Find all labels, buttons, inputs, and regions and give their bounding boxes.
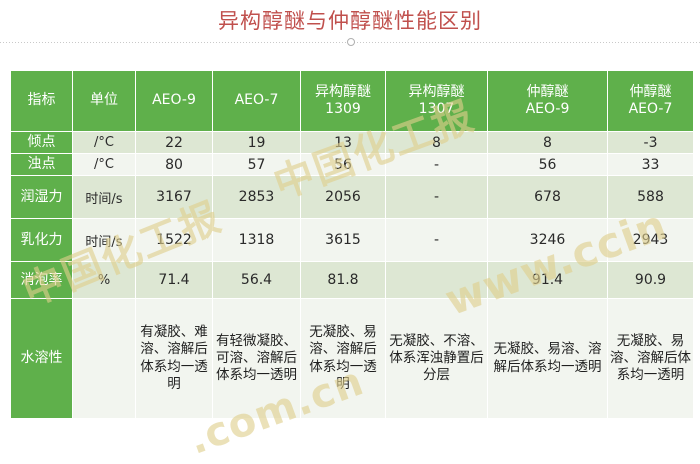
cell-iso1309: 无凝胶、易溶、溶解后体系均一透明 bbox=[301, 299, 386, 419]
header-line1: 单位 bbox=[90, 92, 118, 108]
header-line1: AEO-7 bbox=[235, 92, 279, 108]
column-header-aeo7: AEO-7 bbox=[213, 71, 301, 132]
table-row: 浊点 /°C 80 57 56 - 56 33 bbox=[11, 154, 694, 176]
column-header-sec-aeo7: 仲醇醚 AEO-7 bbox=[608, 71, 694, 132]
cell-aeo9: 80 bbox=[136, 154, 213, 176]
cell-aeo7: 2853 bbox=[213, 176, 301, 219]
cell-sec-aeo9: 91.4 bbox=[488, 262, 608, 299]
column-header-iso1309: 异构醇醚 1309 bbox=[301, 71, 386, 132]
cell-iso1309: 81.8 bbox=[301, 262, 386, 299]
column-header-iso1307: 异构醇醚 1307 bbox=[386, 71, 488, 132]
header-line1: 仲醇醚 bbox=[527, 84, 569, 100]
row-metric-label: 消泡率 bbox=[11, 262, 73, 299]
column-header-unit: 单位 bbox=[73, 71, 136, 132]
cell-aeo7: 57 bbox=[213, 154, 301, 176]
cell-iso1307: - bbox=[386, 154, 488, 176]
cell-sec-aeo7: 588 bbox=[608, 176, 694, 219]
header-line1: 异构醇醚 bbox=[409, 84, 465, 100]
cell-iso1309: 13 bbox=[301, 132, 386, 154]
title-divider-dot bbox=[347, 38, 355, 46]
cell-iso1309: 3615 bbox=[301, 219, 386, 262]
header-line1: 异构醇醚 bbox=[315, 84, 371, 100]
column-header-sec-aeo9: 仲醇醚 AEO-9 bbox=[488, 71, 608, 132]
row-metric-label: 倾点 bbox=[11, 132, 73, 154]
row-unit: /°C bbox=[73, 132, 136, 154]
cell-aeo9: 1522 bbox=[136, 219, 213, 262]
cell-aeo7: 19 bbox=[213, 132, 301, 154]
cell-iso1307 bbox=[386, 262, 488, 299]
cell-sec-aeo7: 90.9 bbox=[608, 262, 694, 299]
cell-iso1307: - bbox=[386, 219, 488, 262]
cell-sec-aeo9: 3246 bbox=[488, 219, 608, 262]
column-header-metric: 指标 bbox=[11, 71, 73, 132]
row-unit bbox=[73, 299, 136, 419]
table-row: 水溶性 有凝胶、难溶、溶解后体系均一透明 有轻微凝胶、可溶、溶解后体系均一透明 … bbox=[11, 299, 694, 419]
cell-sec-aeo7: 2943 bbox=[608, 219, 694, 262]
cell-sec-aeo9: 无凝胶、易溶、溶解后体系均一透明 bbox=[488, 299, 608, 419]
table-row: 倾点 /°C 22 19 13 8 8 -3 bbox=[11, 132, 694, 154]
cell-aeo7: 有轻微凝胶、可溶、溶解后体系均一透明 bbox=[213, 299, 301, 419]
cell-aeo9: 71.4 bbox=[136, 262, 213, 299]
cell-sec-aeo9: 56 bbox=[488, 154, 608, 176]
table-header: 指标 单位 AEO-9 AEO-7 异构醇醚 1309 异构醇醚 1307 bbox=[11, 71, 694, 132]
cell-iso1307: - bbox=[386, 176, 488, 219]
title-bar: 异构醇醚与仲醇醚性能区别 bbox=[0, 0, 700, 43]
table-row: 乳化力 时间/s 1522 1318 3615 - 3246 2943 bbox=[11, 219, 694, 262]
header-line1: 仲醇醚 bbox=[630, 84, 672, 100]
performance-table-container: 中国化工报 中国化工报 www.ccin .com.cn 指标 单位 AEO-9… bbox=[10, 70, 693, 415]
column-header-aeo9: AEO-9 bbox=[136, 71, 213, 132]
table-body: 倾点 /°C 22 19 13 8 8 -3 浊点 /°C 80 57 56 -… bbox=[11, 132, 694, 419]
cell-sec-aeo9: 678 bbox=[488, 176, 608, 219]
cell-iso1307: 8 bbox=[386, 132, 488, 154]
page-title: 异构醇醚与仲醇醚性能区别 bbox=[218, 11, 482, 32]
row-unit: /°C bbox=[73, 154, 136, 176]
table-row: 润湿力 时间/s 3167 2853 2056 - 678 588 bbox=[11, 176, 694, 219]
row-unit: % bbox=[73, 262, 136, 299]
header-line2: AEO-7 bbox=[610, 101, 691, 119]
header-line1: AEO-9 bbox=[152, 92, 196, 108]
header-row: 指标 单位 AEO-9 AEO-7 异构醇醚 1309 异构醇醚 1307 bbox=[11, 71, 694, 132]
cell-sec-aeo9: 8 bbox=[488, 132, 608, 154]
row-metric-label: 润湿力 bbox=[11, 176, 73, 219]
cell-iso1309: 56 bbox=[301, 154, 386, 176]
table-row: 消泡率 % 71.4 56.4 81.8 91.4 90.9 bbox=[11, 262, 694, 299]
cell-aeo9: 3167 bbox=[136, 176, 213, 219]
performance-comparison-table: 指标 单位 AEO-9 AEO-7 异构醇醚 1309 异构醇醚 1307 bbox=[10, 70, 694, 419]
row-metric-label: 乳化力 bbox=[11, 219, 73, 262]
header-line2: 1309 bbox=[303, 101, 383, 119]
cell-sec-aeo7: 33 bbox=[608, 154, 694, 176]
cell-aeo9: 有凝胶、难溶、溶解后体系均一透明 bbox=[136, 299, 213, 419]
header-line2: AEO-9 bbox=[490, 101, 605, 119]
row-unit: 时间/s bbox=[73, 176, 136, 219]
row-metric-label: 水溶性 bbox=[11, 299, 73, 419]
cell-sec-aeo7: 无凝胶、易溶、溶解后体系均一透明 bbox=[608, 299, 694, 419]
cell-aeo9: 22 bbox=[136, 132, 213, 154]
row-metric-label: 浊点 bbox=[11, 154, 73, 176]
cell-aeo7: 56.4 bbox=[213, 262, 301, 299]
cell-iso1307: 无凝胶、不溶、体系浑浊静置后分层 bbox=[386, 299, 488, 419]
cell-aeo7: 1318 bbox=[213, 219, 301, 262]
header-line2: 1307 bbox=[388, 101, 485, 119]
cell-iso1309: 2056 bbox=[301, 176, 386, 219]
cell-sec-aeo7: -3 bbox=[608, 132, 694, 154]
row-unit: 时间/s bbox=[73, 219, 136, 262]
header-line1: 指标 bbox=[28, 92, 56, 108]
